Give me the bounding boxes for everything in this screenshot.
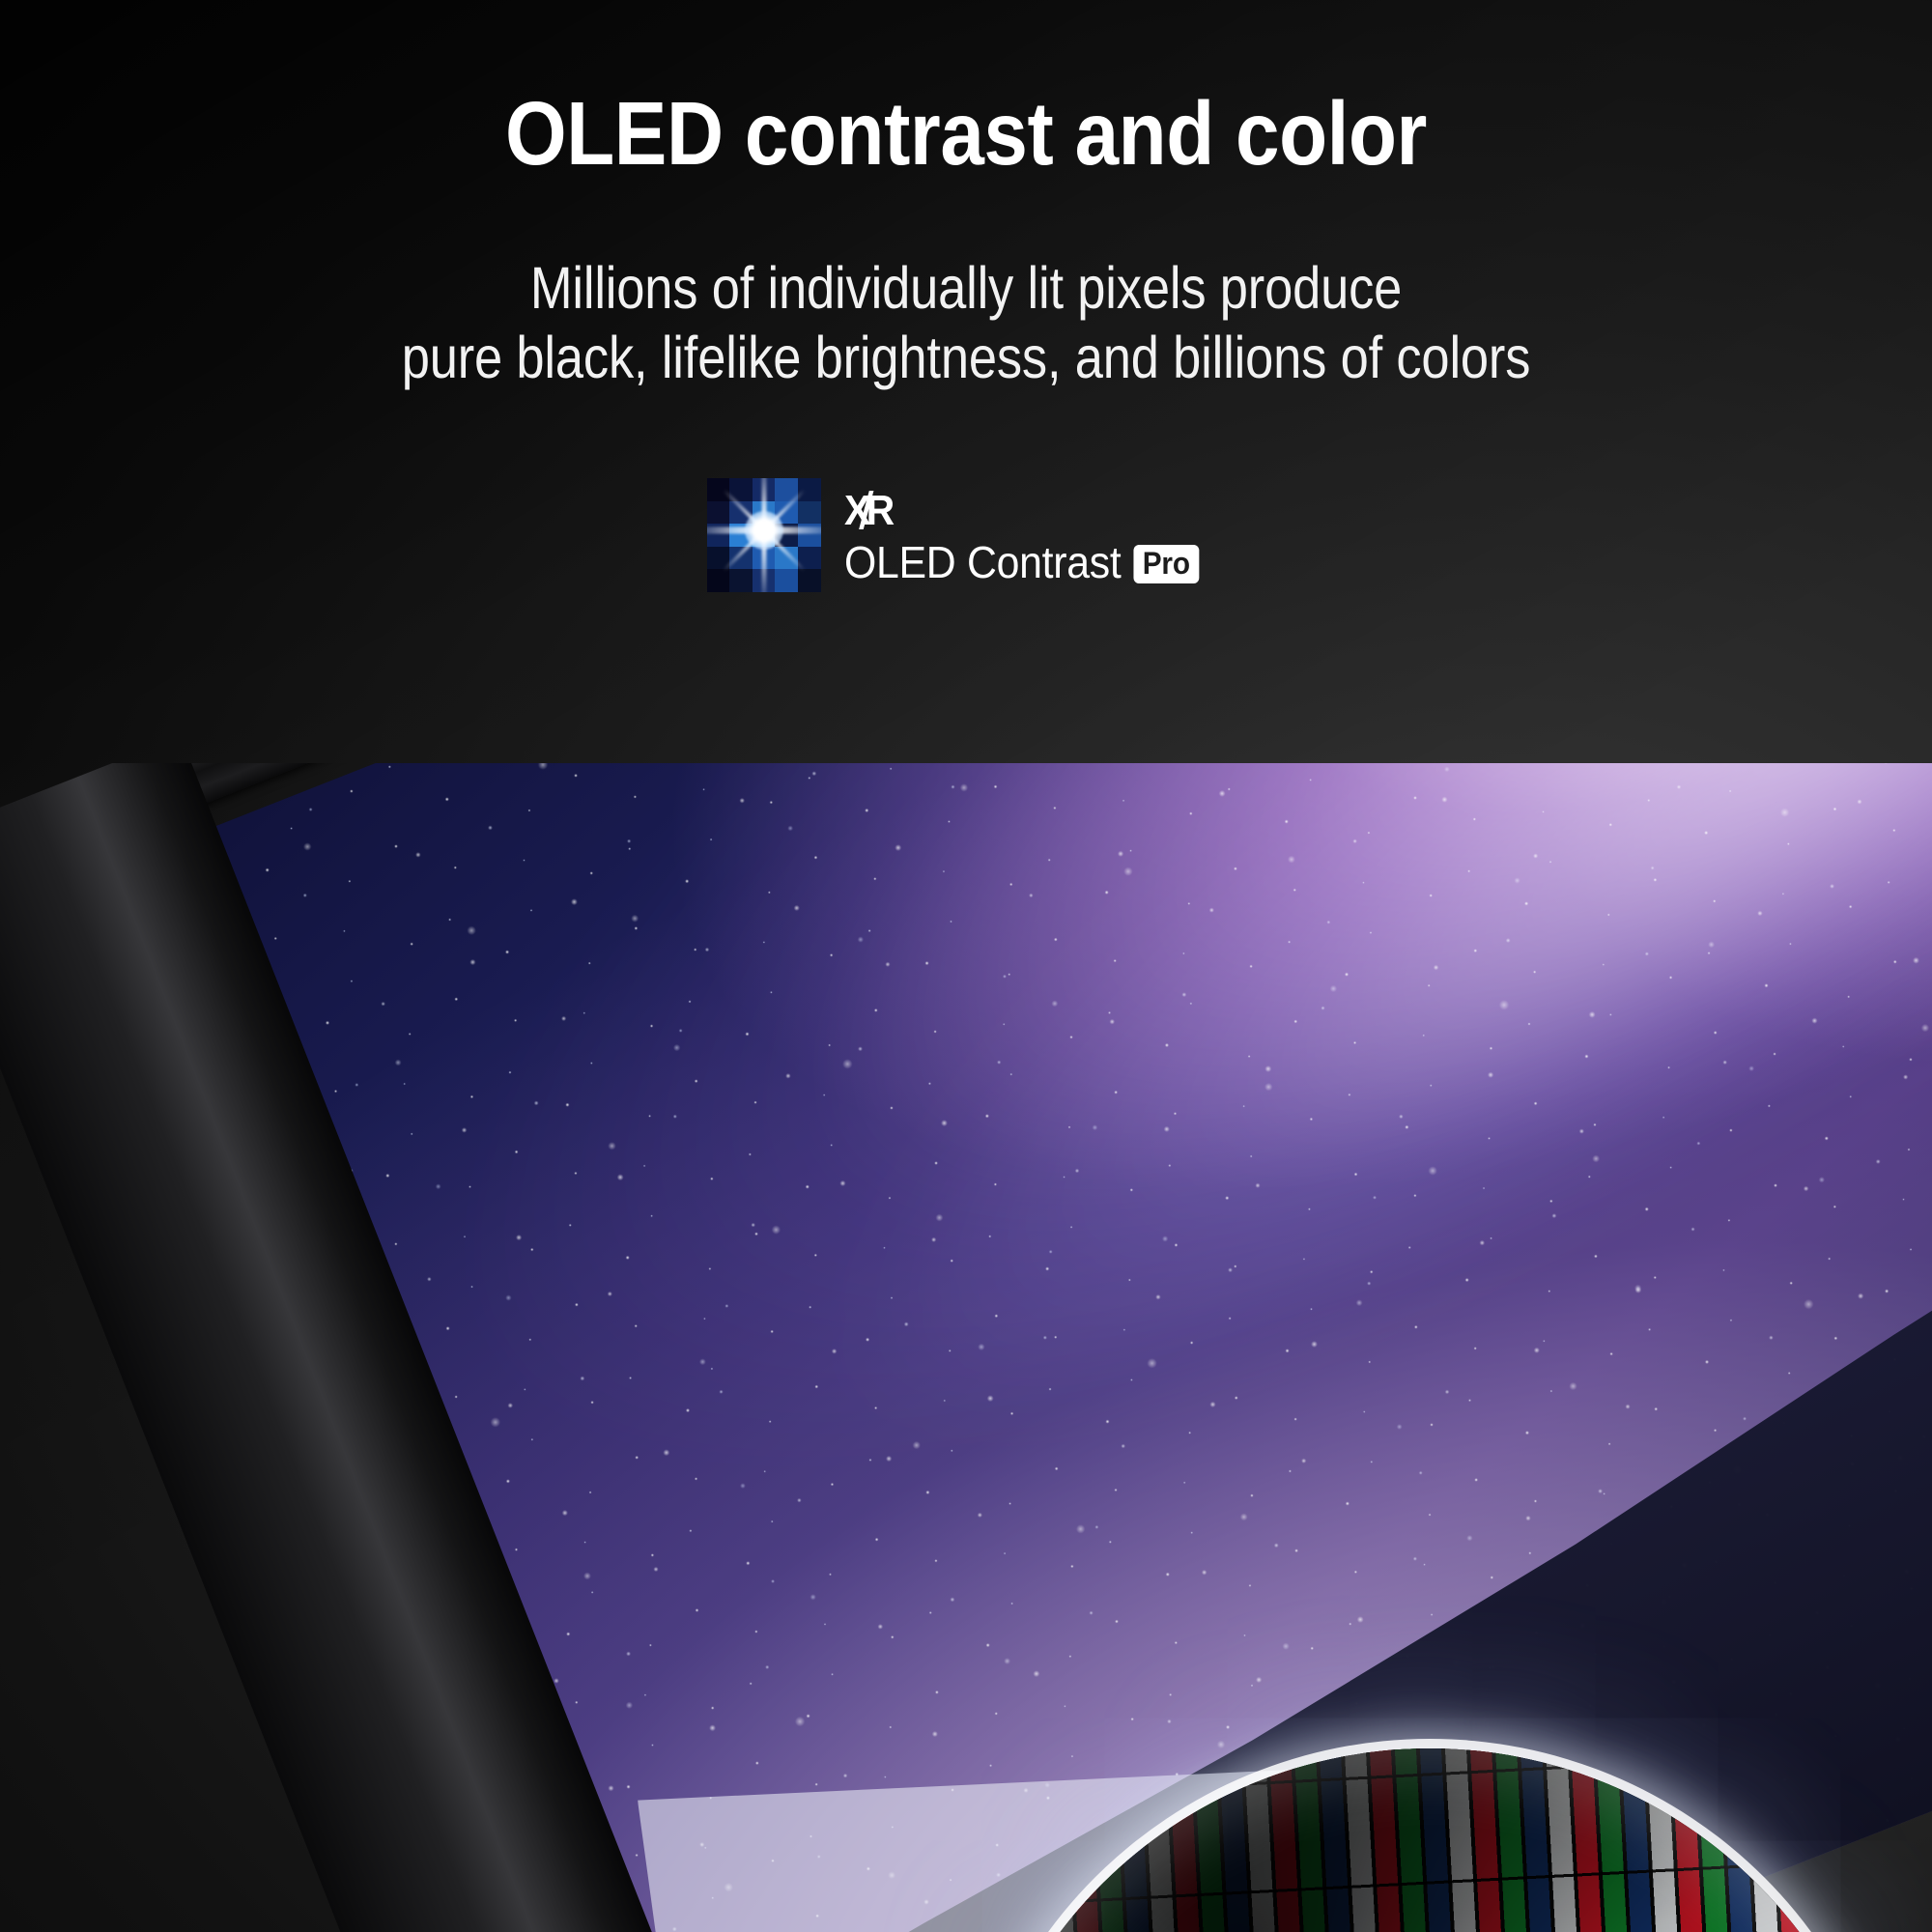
subtitle-line-2: pure black, lifelike brightness, and bil… — [135, 324, 1797, 393]
subpixel-magnifier-lens — [966, 1748, 1893, 1932]
pro-tier-badge: Pro — [1133, 545, 1199, 583]
subtitle-line-1: Millions of individually lit pixels prod… — [135, 254, 1797, 324]
promo-banner: OLED contrast and color Millions of indi… — [0, 0, 1932, 1932]
starburst-core — [745, 511, 783, 550]
page-title: OLED contrast and color — [116, 89, 1816, 179]
subpixel-luminance-shading — [966, 1748, 1893, 1932]
oled-tv-night-sky-photo — [0, 763, 1932, 1932]
copy-block: OLED contrast and color Millions of indi… — [0, 0, 1932, 592]
xr-product-line: OLED Contrast Pro — [844, 540, 1199, 584]
xr-badge-text: X R OLED Contrast Pro — [844, 486, 1199, 584]
xr-product-name: OLED Contrast — [844, 540, 1121, 584]
xr-technology-badge: X R OLED Contrast Pro — [0, 478, 1932, 592]
xr-starburst-pixel-grid-icon — [707, 478, 821, 592]
subtitle: Millions of individually lit pixels prod… — [135, 254, 1797, 393]
xr-wordmark: X R — [844, 486, 1199, 532]
